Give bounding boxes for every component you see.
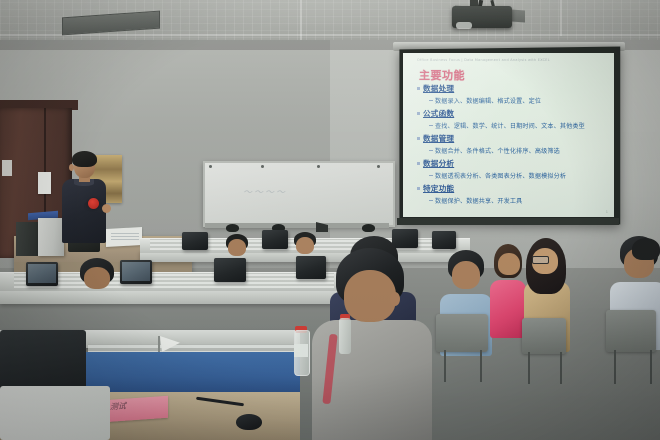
chair-leg [444,350,446,382]
monitor [214,258,246,282]
whiteboard-clip [261,165,264,168]
monitor [120,260,152,284]
slide-heading: 数据管理 [423,133,454,144]
student-hair [632,238,660,260]
student-head [498,253,520,275]
bullet-icon [417,112,420,115]
presenter-hair [72,151,97,167]
monitor-screen [28,264,56,283]
ceiling-beam-vertical-right [560,0,562,36]
projector-lens [456,22,472,29]
podium-equipment-dark [16,222,38,256]
monitor [182,232,208,250]
bullet-icon [417,162,420,165]
bullet-icon [417,137,420,140]
student-back-row [224,234,250,260]
whiteboard-erased-writing: ～～～～ [243,185,353,201]
podium-paper-text [111,232,139,240]
glasses-icon [532,256,549,264]
student-head [452,261,480,289]
bullet-icon [417,87,420,90]
presenter-hand [102,204,111,213]
slide-title: 主要功能 [419,67,465,83]
chair-leg [560,352,562,384]
whiteboard: ～～～～ [203,161,395,227]
chair-back [606,310,656,352]
slide-detail: 数据录入、数据编辑、格式设置、定位 [429,96,541,105]
posted-paper [38,172,51,194]
bullet-icon [417,187,420,190]
chair-back [522,318,566,354]
chair-back [436,314,488,352]
slide-detail: 数据透视表分析、各类图表分析、数据模拟分析 [429,171,566,180]
projection-screen: Office Business Focus | Data Management … [403,53,614,217]
student-torso [490,280,526,338]
monitor [262,230,288,249]
student-head [84,267,110,289]
monitor [26,262,58,286]
chair-leg [528,352,530,384]
slide-page-number: 1 [606,210,608,214]
posted-paper-secondary [2,160,12,176]
slide-section-3: 数据管理 数据合并、条件格式、个性化排序、高级筛选 [417,133,560,157]
slide-heading: 数据处理 [423,83,454,94]
slide-detail: 数据保护、数据共享、开发工具 [429,196,522,205]
desk-blinds-middle [14,273,334,288]
bottle-label [294,344,308,357]
water-bottle [339,318,351,354]
whiteboard-clip [377,165,380,168]
student-head [344,270,396,322]
slide-header-text: Office Business Focus | Data Management … [417,58,550,62]
student-ear [390,292,400,306]
ceiling-beam-vertical [300,0,302,40]
slide-detail: 数据合并、条件格式、个性化排序、高级筛选 [429,146,560,155]
slide-section-1: 数据处理 数据录入、数据编辑、格式设置、定位 [417,83,541,107]
whiteboard-clip [317,165,320,168]
presenter [60,154,108,262]
slide-section-4: 数据分析 数据透视表分析、各类图表分析、数据模拟分析 [417,158,566,182]
student-back-row [628,238,660,298]
screen-bottom-bar [397,218,619,225]
presenter-shirt-logo [88,198,99,209]
foreground-monitor-secondary [0,386,110,440]
slide-detail: 查找、逻辑、数学、统计、日期时间、文本、其他类型 [429,121,585,130]
student-front-center [312,248,432,440]
slide-heading: 特定功能 [423,183,454,194]
slide-section-5: 特定功能 数据保护、数据共享、开发工具 [417,183,522,207]
slide-section-2: 公式函数 查找、逻辑、数学、统计、日期时间、文本、其他类型 [417,108,585,132]
student-black-hair-left [76,258,118,298]
whiteboard-clip [209,165,212,168]
slide-heading: 数据分析 [423,158,454,169]
computer-mouse [236,414,262,430]
monitor-screen [122,262,150,281]
chair-leg [480,350,482,382]
whiteboard-marker [226,224,239,232]
presenter-ear [69,164,74,171]
student-head [228,239,246,256]
slide-heading: 公式函数 [423,108,454,119]
pink-desk-label-text: 测试 [110,400,126,412]
chair-leg [650,350,652,384]
whiteboard-marker [362,224,375,232]
monitor [432,231,456,249]
student-pink-top [490,244,526,336]
chair-leg [614,350,616,384]
classroom-photo: Office Business Focus | Data Management … [0,0,660,440]
